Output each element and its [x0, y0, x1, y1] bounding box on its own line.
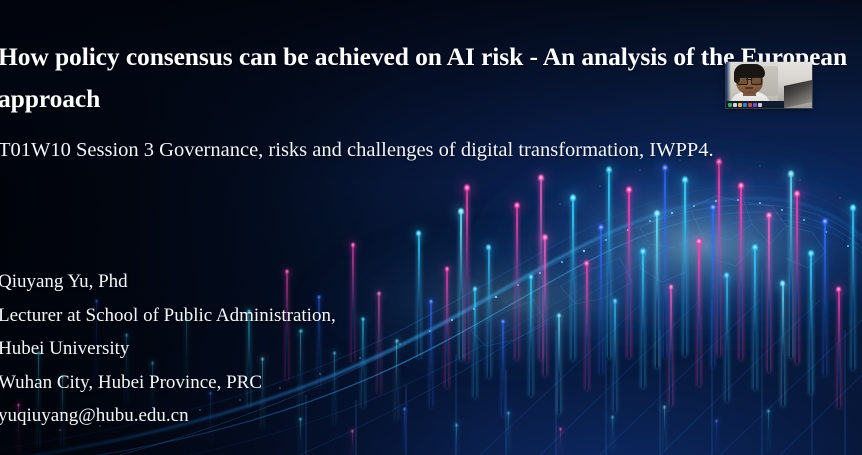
- author-name: Qiuyang Yu, Phd: [0, 265, 418, 299]
- taskbar-dot-0: [728, 103, 732, 107]
- taskbar-dot-3: [743, 103, 747, 107]
- presentation-slide: How policy consensus can be achieved on …: [0, 0, 862, 455]
- webcam-glasses: [737, 77, 762, 83]
- webcam-mouth: [745, 87, 753, 89]
- taskbar-dot-4: [748, 103, 752, 107]
- taskbar-dot-1: [733, 103, 737, 107]
- author-block: Qiuyang Yu, Phd Lecturer at School of Pu…: [0, 265, 418, 433]
- taskbar-dot-5: [753, 103, 757, 107]
- presenter-webcam-thumbnail[interactable]: [726, 62, 812, 108]
- author-affiliation: Lecturer at School of Public Administrat…: [0, 299, 418, 333]
- glasses-right-lens: [751, 77, 762, 85]
- webcam-taskbar-strip: [726, 101, 784, 108]
- author-email: yuqiuyang@hubu.edu.cn: [0, 399, 418, 433]
- taskbar-dot-6: [758, 103, 762, 107]
- taskbar-dot-2: [738, 103, 742, 107]
- author-location: Wuhan City, Hubei Province, PRC: [0, 366, 418, 400]
- slide-subtitle: T01W10 Session 3 Governance, risks and c…: [0, 136, 858, 164]
- glasses-bridge: [746, 79, 751, 80]
- author-university: Hubei University: [0, 332, 418, 366]
